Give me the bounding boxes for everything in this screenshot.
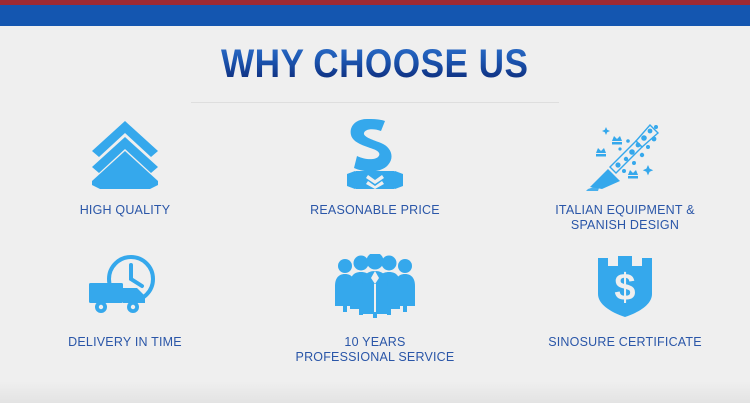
dollar-podium-icon [343, 117, 407, 193]
svg-text:$: $ [614, 267, 635, 309]
feature-item-high-quality: HIGH QUALITY [0, 117, 250, 247]
feature-item-professional-service: 10 YEARS PROFESSIONAL SERVICE [250, 247, 500, 387]
content-area: WHYCHOOSE US HIGH QUALITY [0, 26, 750, 403]
top-blue-bar [0, 5, 750, 26]
party-popper-icon [586, 117, 664, 193]
feature-label: REASONABLE PRICE [310, 203, 440, 218]
feature-item-reasonable-price: REASONABLE PRICE [250, 117, 500, 247]
feature-label: DELIVERY IN TIME [68, 335, 182, 350]
feature-item-delivery-in-time: DELIVERY IN TIME [0, 247, 250, 387]
feature-item-italian-equipment: ITALIAN EQUIPMENT & SPANISH DESIGN [500, 117, 750, 247]
team-people-icon [334, 247, 416, 325]
shield-dollar-icon: $ [596, 247, 654, 325]
features-grid: HIGH QUALITY R [0, 117, 750, 387]
truck-clock-icon [85, 247, 165, 325]
page-title-word-choose-us: CHOOSE US [314, 42, 529, 86]
page-title-word-why: WHY [221, 42, 304, 86]
title-divider [191, 102, 559, 103]
chevron-pentagon-icon [88, 117, 162, 193]
feature-label: SINOSURE CERTIFICATE [548, 335, 702, 350]
page-title: WHYCHOOSE US [0, 26, 750, 103]
feature-label: ITALIAN EQUIPMENT & SPANISH DESIGN [555, 203, 694, 233]
why-choose-us-banner: WHYCHOOSE US HIGH QUALITY [0, 0, 750, 403]
feature-label: HIGH QUALITY [80, 203, 171, 218]
feature-item-sinosure-certificate: $ SINOSURE CERTIFICATE [500, 247, 750, 387]
feature-label: 10 YEARS PROFESSIONAL SERVICE [296, 335, 455, 365]
